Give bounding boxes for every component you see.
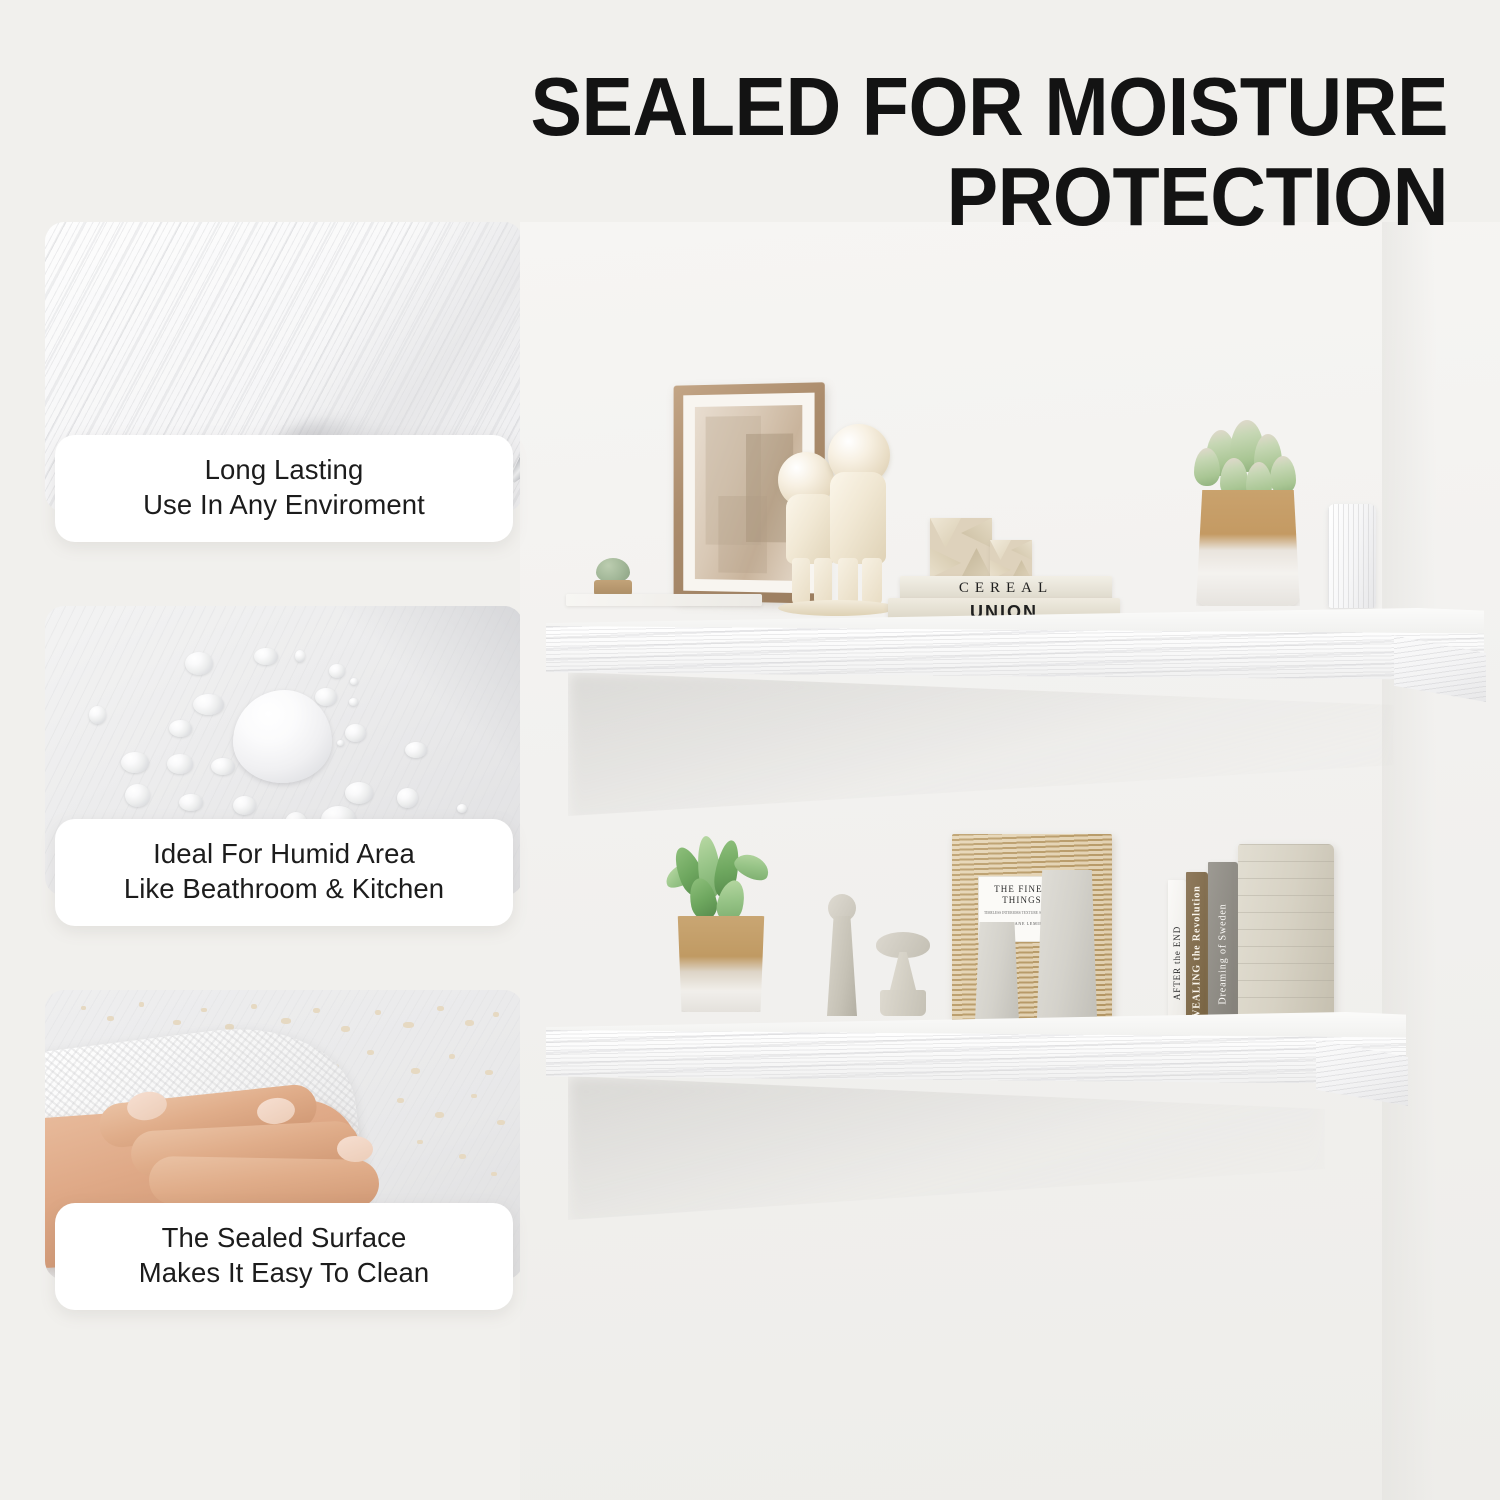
- tall-taupe-candle-holder: [820, 894, 864, 1018]
- feature-card-water-resistance: Ideal For Humid Area Like Beathroom & Ki…: [45, 606, 523, 896]
- book-cereal: CEREAL: [900, 576, 1112, 600]
- white-ribbed-bottle-vase: [1328, 504, 1376, 608]
- caption-line-1: Long Lasting: [69, 452, 499, 488]
- water-droplet: [169, 720, 192, 737]
- water-droplet: [89, 706, 106, 724]
- water-droplet: [337, 740, 344, 746]
- water-droplet: [179, 794, 203, 811]
- headline-line-1: SEALED FOR MOISTURE: [380, 62, 1448, 152]
- headline-line-2: PROTECTION: [380, 152, 1448, 242]
- feature-card-easy-clean: The Sealed Surface Makes It Easy To Clea…: [45, 990, 523, 1280]
- succulent-in-gold-white-planter: [1188, 420, 1308, 610]
- water-droplet: [405, 742, 427, 758]
- pearl-couple-figurine: [772, 416, 908, 614]
- page-title: SEALED FOR MOISTURE PROTECTION: [380, 62, 1448, 241]
- caption-line-1: The Sealed Surface: [69, 1220, 499, 1256]
- shelf-product-photo: CEREAL UNION: [520, 222, 1500, 1500]
- water-droplet: [457, 804, 467, 813]
- water-droplet: [121, 752, 149, 773]
- water-droplet: [349, 698, 358, 706]
- water-droplet: [397, 788, 418, 808]
- water-droplet: [254, 648, 278, 665]
- feature-caption-durability: Long Lasting Use In Any Enviroment: [55, 435, 513, 543]
- wall-corner: [1382, 222, 1500, 1500]
- caption-line-2: Makes It Easy To Clean: [69, 1255, 499, 1291]
- water-droplet: [211, 758, 235, 775]
- feature-caption-water-resistance: Ideal For Humid Area Like Beathroom & Ki…: [55, 819, 513, 927]
- feature-caption-easy-clean: The Sealed Surface Makes It Easy To Clea…: [55, 1203, 513, 1311]
- water-droplet: [185, 652, 213, 675]
- short-taupe-candle-holder: [876, 932, 930, 1018]
- caption-line-1: Ideal For Humid Area: [69, 836, 499, 872]
- caption-line-2: Like Beathroom & Kitchen: [69, 871, 499, 907]
- caption-line-2: Use In Any Enviroment: [69, 487, 499, 523]
- water-droplet: [295, 650, 305, 662]
- water-droplet: [125, 784, 150, 807]
- water-droplet: [350, 678, 358, 685]
- feature-list: Long Lasting Use In Any Enviroment: [45, 222, 523, 1280]
- book-after-the-end-title: AFTER the END: [1172, 926, 1182, 1000]
- book-revealing-the-revolution-title: REVEALING the Revolution: [1192, 885, 1203, 1032]
- green-leaf-plant-in-textured-pot: [660, 834, 780, 1018]
- feature-card-durability: Long Lasting Use In Any Enviroment: [45, 222, 523, 512]
- book-cereal-title: CEREAL: [900, 580, 1112, 597]
- water-droplet: [233, 796, 256, 815]
- water-droplet: [193, 694, 224, 715]
- water-droplet: [345, 782, 373, 804]
- water-droplet: [167, 754, 193, 774]
- water-droplet: [329, 664, 345, 678]
- decor-tray: [566, 594, 762, 606]
- water-droplet: [315, 688, 337, 706]
- book-dreaming-of-sweden-title: Dreaming of Sweden: [1218, 903, 1229, 1004]
- water-droplet: [345, 724, 366, 742]
- large-water-droplet: [233, 690, 332, 783]
